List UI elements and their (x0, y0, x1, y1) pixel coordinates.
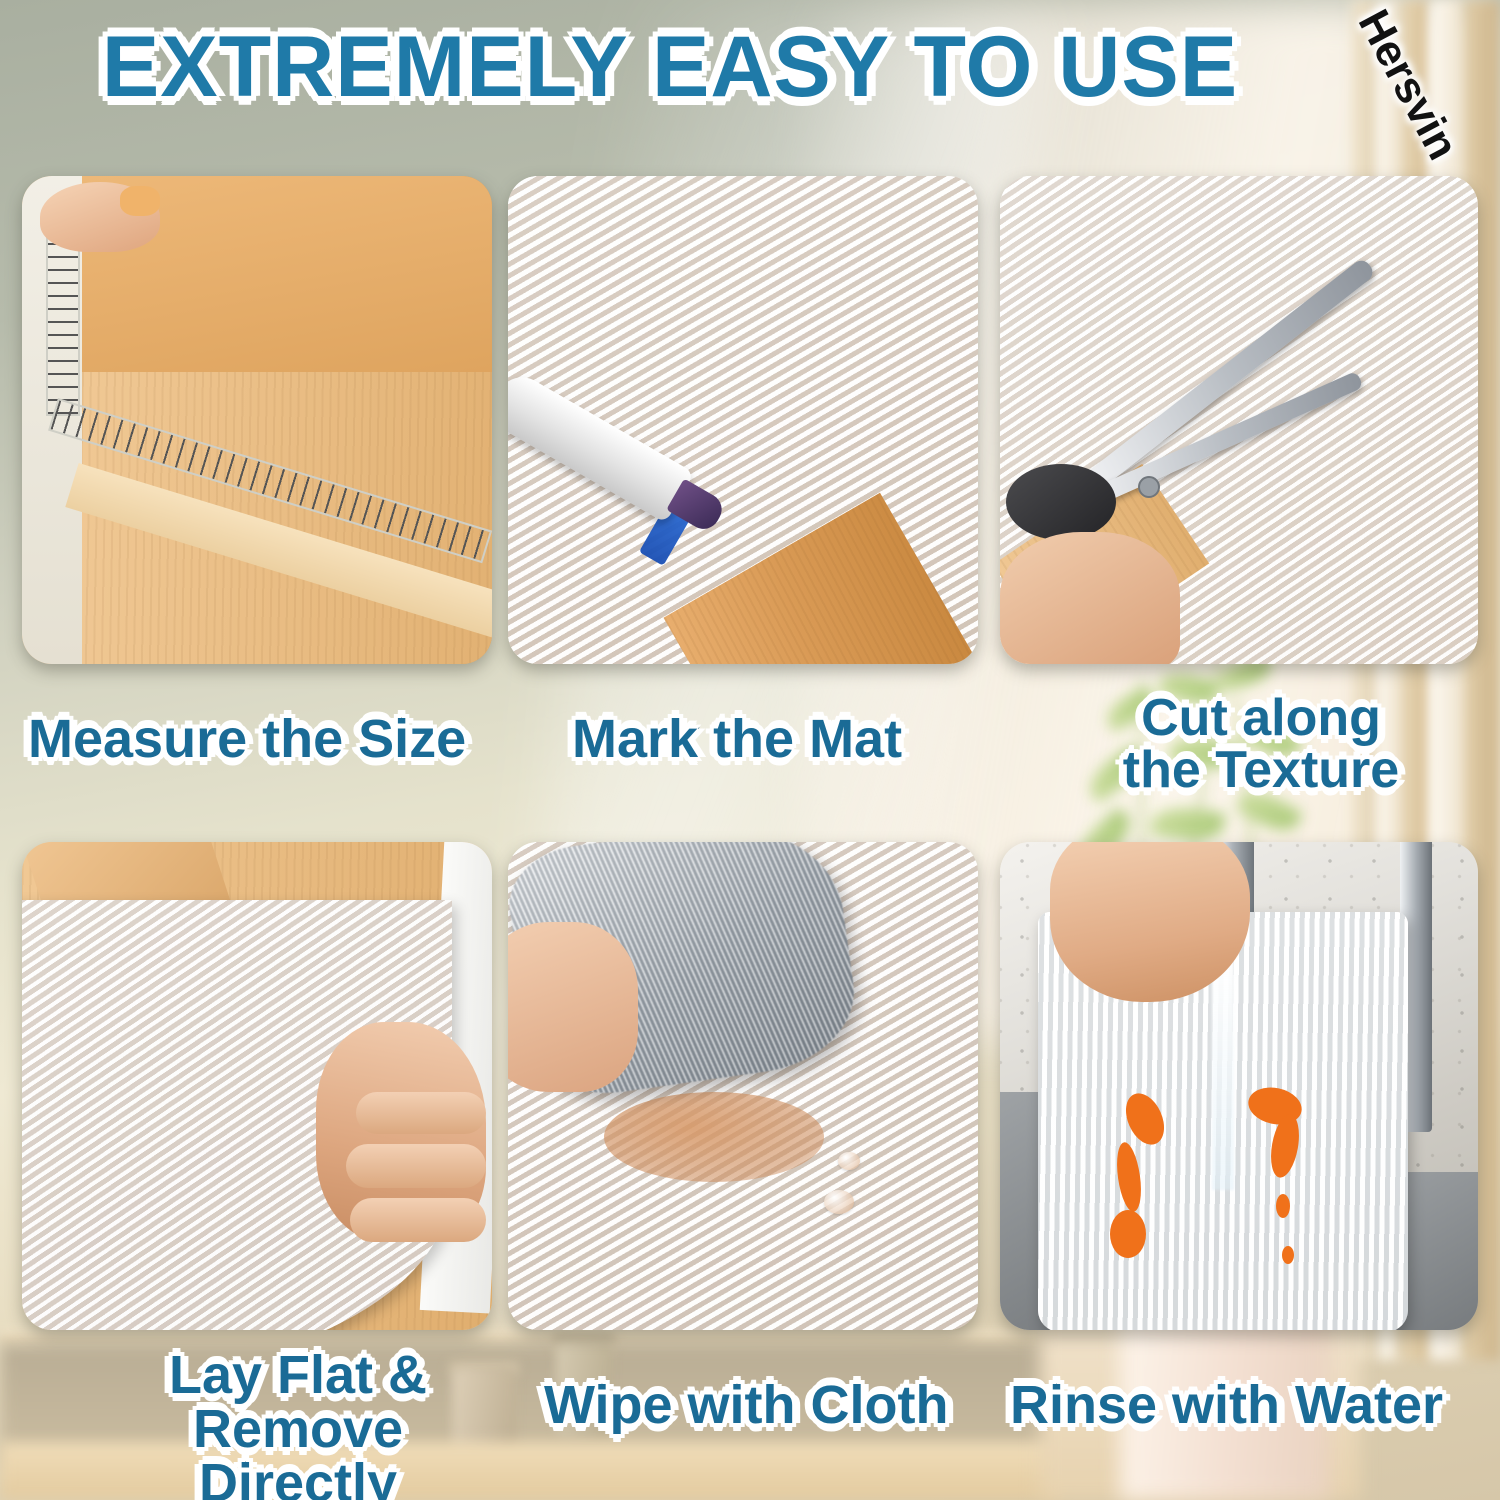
water-stream (1212, 960, 1234, 1190)
finger (350, 1198, 486, 1242)
brand-name: Hersvin (1348, 2, 1468, 168)
scissors-pivot-screw (1138, 476, 1160, 498)
orange-stain (1110, 1210, 1146, 1258)
caption-line: Remove Directly (88, 1402, 508, 1500)
scissors-handle (1006, 464, 1116, 540)
hand-holding-scissors (1000, 532, 1180, 664)
brand-logo: Hersvin (1318, 10, 1498, 160)
caption-rinse-with-water: Rinse with Water (1010, 1378, 1443, 1432)
orange-stain (1282, 1246, 1294, 1264)
cut-along-the-texture-photo (1000, 176, 1478, 664)
water-droplet (838, 1152, 860, 1170)
orange-stain (1276, 1194, 1290, 1218)
infographic-root: EXTREMELY EASY TO USE Hersvin (0, 0, 1500, 1500)
tape-case (120, 186, 160, 216)
finger (356, 1092, 486, 1134)
lay-flat-remove-directly-photo (22, 842, 492, 1330)
rinse-with-water-photo (1000, 842, 1478, 1330)
caption-line: Cut along (1096, 692, 1426, 744)
caption-measure-the-size: Measure the Size (28, 712, 466, 766)
background-shelf-edge (0, 1330, 1060, 1344)
mark-the-mat-photo (508, 176, 978, 664)
finger (346, 1144, 486, 1188)
page-title: EXTREMELY EASY TO USE (0, 24, 1340, 110)
hand-holding-cloth (508, 922, 638, 1092)
caption-lay-flat-remove-directly: Lay Flat & Remove Directly (88, 1348, 508, 1500)
caption-line: the Texture (1096, 744, 1426, 796)
caption-mark-the-mat: Mark the Mat (572, 712, 902, 766)
measure-the-size-photo (22, 176, 492, 664)
water-droplet (824, 1190, 854, 1214)
wipe-with-cloth-photo (508, 842, 978, 1330)
caption-line: Lay Flat & (88, 1348, 508, 1402)
liquid-spill (604, 1092, 824, 1182)
caption-wipe-with-cloth: Wipe with Cloth (544, 1378, 948, 1432)
caption-cut-along-the-texture: Cut along the Texture (1096, 692, 1426, 796)
